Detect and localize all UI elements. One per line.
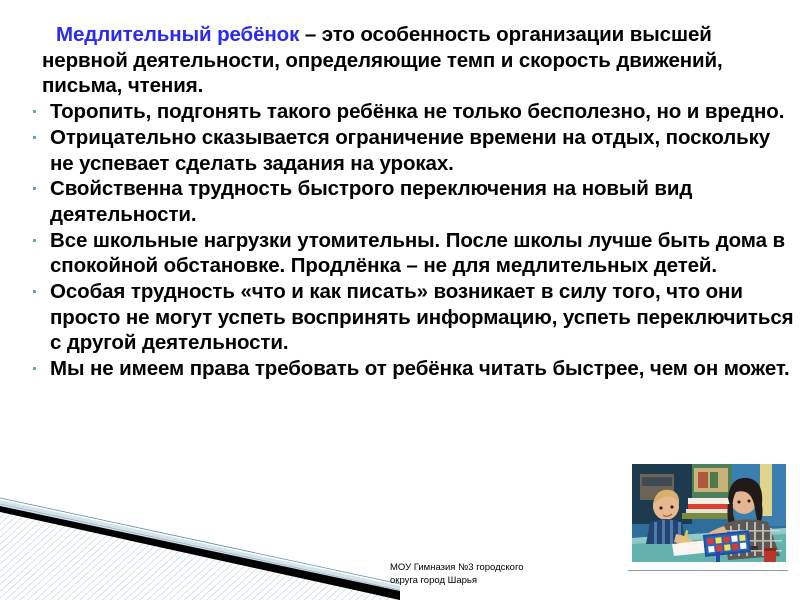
footer-line-1: МОУ Гимназия №3 городского bbox=[390, 562, 620, 575]
bullet-marker-icon bbox=[33, 290, 36, 293]
bullet-item-text: Мы не имеем права требовать от ребёнка ч… bbox=[50, 357, 790, 380]
bullet-item-text: Торопить, подгонять такого ребёнка не то… bbox=[50, 100, 784, 123]
photo-underline-rule bbox=[628, 570, 788, 571]
bullet-item: Свойственна трудность быстрого переключе… bbox=[0, 176, 800, 227]
lead-accent-phrase: Медлительный ребёнок bbox=[56, 23, 299, 46]
corner-decoration bbox=[0, 490, 400, 600]
bullet-item: Мы не имеем права требовать от ребёнка ч… bbox=[0, 356, 800, 382]
footer-line-2: округа город Шарья bbox=[390, 575, 620, 588]
bullet-item: Торопить, подгонять такого ребёнка не то… bbox=[0, 99, 800, 125]
bullet-item-text: Особая трудность «что и как писать» возн… bbox=[50, 280, 794, 354]
footer-credit: МОУ Гимназия №3 городского округа город … bbox=[390, 562, 620, 587]
bullet-marker-icon bbox=[33, 187, 36, 190]
bullet-item-text: Отрицательно сказывается ограничение вре… bbox=[50, 126, 770, 175]
bullet-marker-icon bbox=[33, 239, 36, 242]
bullet-item: Все школьные нагрузки утомительны. После… bbox=[0, 228, 800, 279]
bullet-item-text: Все школьные нагрузки утомительны. После… bbox=[50, 229, 785, 278]
bullet-item-text: Свойственна трудность быстрого переключе… bbox=[50, 177, 692, 226]
bullet-marker-icon bbox=[33, 110, 36, 113]
bullet-marker-icon bbox=[33, 367, 36, 370]
lead-paragraph: Медлительный ребёнок – это особенность о… bbox=[0, 22, 800, 99]
classroom-photo bbox=[632, 464, 786, 562]
slide-canvas: Медлительный ребёнок – это особенность о… bbox=[0, 0, 800, 600]
bullet-marker-icon bbox=[33, 136, 36, 139]
slide-body: Медлительный ребёнок – это особенность о… bbox=[0, 22, 800, 382]
bullet-item: Отрицательно сказывается ограничение вре… bbox=[0, 125, 800, 176]
bullet-item: Особая трудность «что и как писать» возн… bbox=[0, 279, 800, 356]
